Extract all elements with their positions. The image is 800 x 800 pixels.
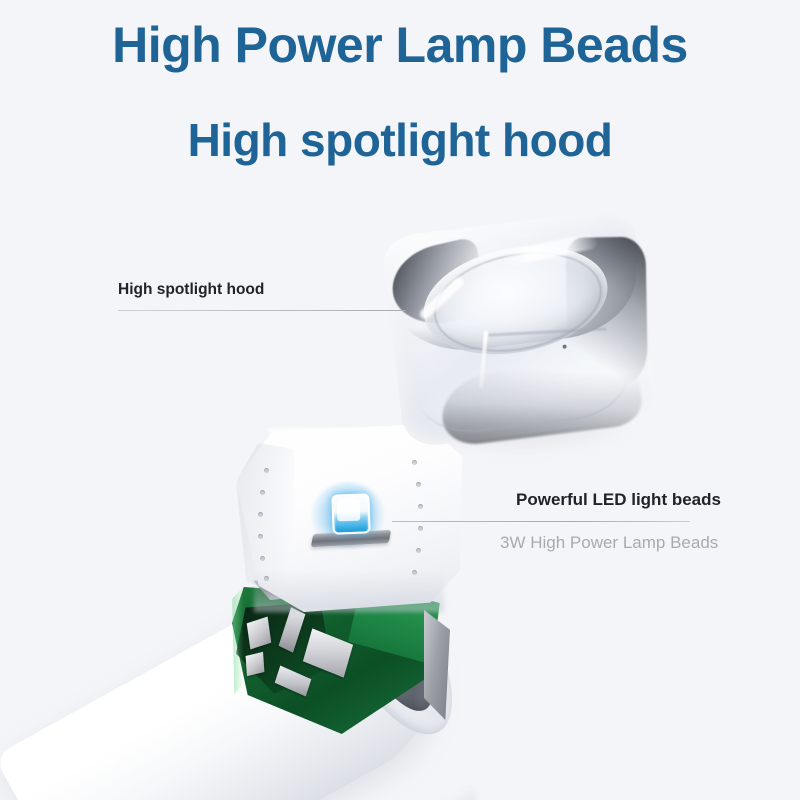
pcb-component <box>246 652 265 677</box>
module-bottom-shading <box>254 571 444 612</box>
callout-label-led-beads: Powerful LED light beads <box>516 490 721 510</box>
pcb-heatsink-side <box>424 610 450 720</box>
product-illustration <box>0 0 800 800</box>
module-dimple <box>258 534 263 539</box>
infographic-canvas: High Power Lamp Beads High spotlight hoo… <box>0 0 800 800</box>
module-dimple <box>264 576 269 581</box>
module-dimple <box>258 512 263 517</box>
module-dimple <box>416 482 421 487</box>
white-led-module <box>236 424 462 612</box>
module-dimple <box>416 548 421 553</box>
module-dimple <box>418 504 423 509</box>
module-dimple <box>418 526 423 531</box>
callout-leader-line-left <box>118 310 406 311</box>
module-dimple <box>412 460 417 465</box>
callout-label-spotlight-hood: High spotlight hood <box>118 281 264 299</box>
glass-spotlight-hood <box>380 207 658 448</box>
module-dimple <box>412 570 417 575</box>
module-dimple <box>260 556 265 561</box>
callout-leader-line-right <box>392 521 690 522</box>
module-dimple <box>260 490 265 495</box>
led-chip-emitter <box>337 499 361 522</box>
callout-sublabel-led-beads: 3W High Power Lamp Beads <box>500 533 718 553</box>
module-dimple <box>264 468 269 473</box>
